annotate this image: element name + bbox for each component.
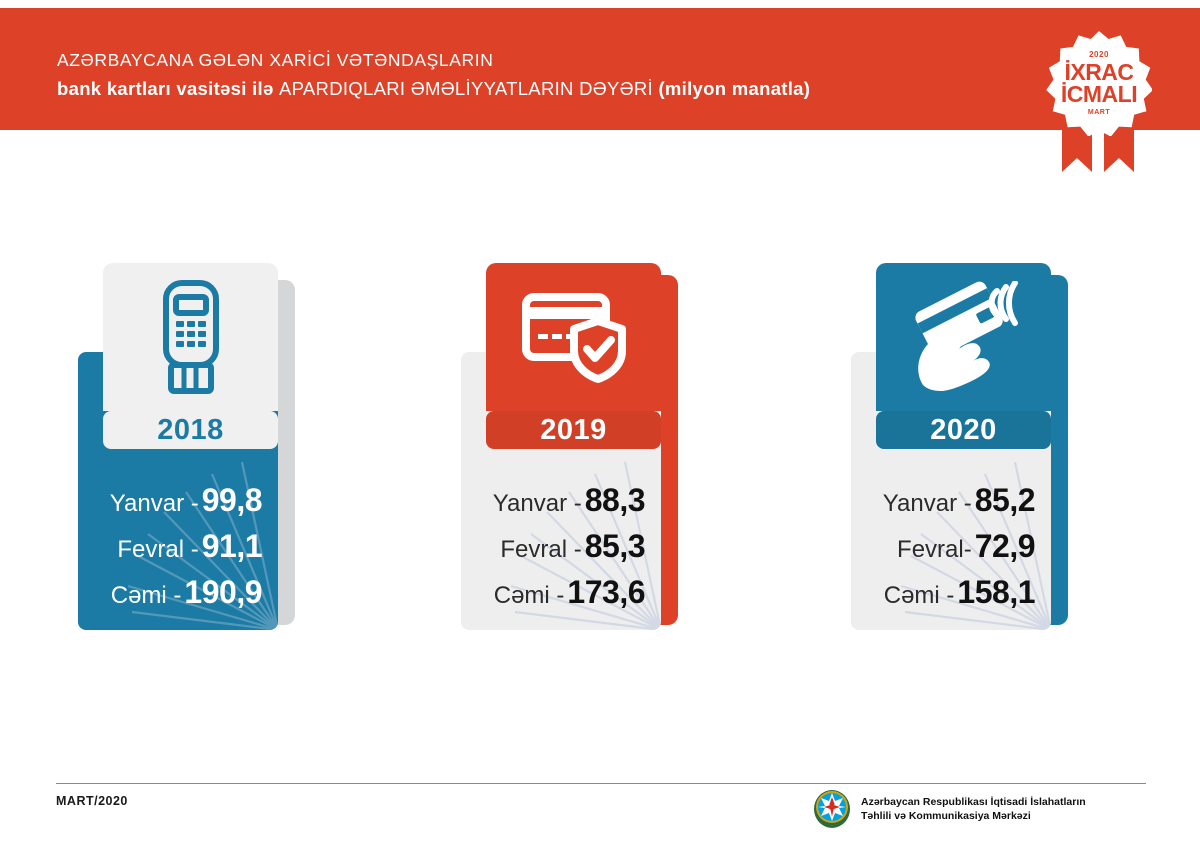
year-card-2019: Yanvar -88,3 Fevral -85,3 Cəmi -173,6 [443,0,803,700]
stat-value: 72,9 [975,528,1035,564]
stat-row: Fevral -85,3 [493,530,645,562]
card-year-tab: 2018 [103,411,278,449]
pos-terminal-icon [148,277,234,397]
stat-label: Fevral- [897,536,972,563]
stat-value: 190,9 [184,574,262,610]
azerbaijan-emblem-icon [812,787,852,831]
stat-value: 85,2 [975,482,1035,518]
footer-divider [56,783,1146,784]
card-icon-panel [876,263,1051,411]
card-stats: Yanvar -85,2 Fevral-72,9 Cəmi -158,1 [883,484,1035,608]
stat-value: 158,1 [957,574,1035,610]
stat-label: Fevral - [117,536,198,563]
contactless-payment-icon [905,281,1023,393]
stat-value: 88,3 [585,482,645,518]
stat-value: 173,6 [567,574,645,610]
stat-row: Cəmi -190,9 [110,576,262,608]
stat-row: Yanvar -88,3 [493,484,645,516]
stat-row: Cəmi -158,1 [883,576,1035,608]
card-year-tab: 2020 [876,411,1051,449]
footer-date: MART/2020 [56,794,128,808]
stat-row: Fevral-72,9 [883,530,1035,562]
stat-row: Yanvar -85,2 [883,484,1035,516]
stat-row: Cəmi -173,6 [493,576,645,608]
stat-value: 99,8 [202,482,262,518]
organization-line-2: Təhlili və Kommunikasiya Mərkəzi [861,809,1086,823]
stat-label: Yanvar - [493,490,582,517]
stat-label: Cəmi - [884,582,955,609]
year-card-2020: Yanvar -85,2 Fevral-72,9 Cəmi -158,1 [833,0,1193,700]
card-year-label: 2018 [157,416,224,445]
year-card-2018: Yanvar -99,8 Fevral -91,1 Cəmi -190,9 [60,0,420,700]
organization-line-1: Azərbaycan Respublikası İqtisadi İslahat… [861,795,1086,809]
infographic-page: AZƏRBAYCANA GƏLƏN XARİCİ VƏTƏNDAŞLARIN b… [0,0,1200,849]
card-icon-panel [103,263,278,411]
stat-row: Yanvar -99,8 [110,484,262,516]
card-year-label: 2020 [930,416,997,445]
stat-value: 85,3 [585,528,645,564]
cards-container: Yanvar -99,8 Fevral -91,1 Cəmi -190,9 [0,0,1200,849]
stat-value: 91,1 [202,528,262,564]
stat-label: Yanvar - [883,490,972,517]
stat-label: Cəmi - [494,582,565,609]
card-year-tab: 2019 [486,411,661,449]
stat-label: Cəmi - [111,582,182,609]
credit-card-shield-icon [520,289,628,385]
card-stats: Yanvar -99,8 Fevral -91,1 Cəmi -190,9 [110,484,262,608]
organization-name: Azərbaycan Respublikası İqtisadi İslahat… [861,795,1086,823]
card-icon-panel [486,263,661,411]
card-stats: Yanvar -88,3 Fevral -85,3 Cəmi -173,6 [493,484,645,608]
stat-label: Fevral - [500,536,581,563]
footer-organization: Azərbaycan Respublikası İqtisadi İslahat… [812,787,1086,831]
stat-row: Fevral -91,1 [110,530,262,562]
stat-label: Yanvar - [110,490,199,517]
card-year-label: 2019 [540,416,607,445]
